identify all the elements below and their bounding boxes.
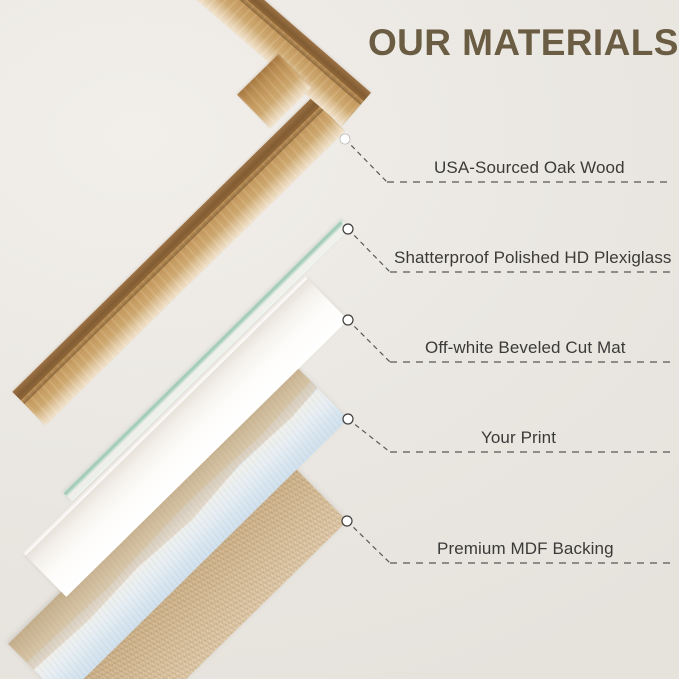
materials-infographic: OUR MATERIALS USA-Sourced Oak Wood Shatt… [0, 0, 679, 679]
exploded-layer-stack [0, 0, 679, 679]
oak-rabbet-groove-upper [39, 0, 371, 101]
page-title: OUR MATERIALS [368, 22, 679, 64]
